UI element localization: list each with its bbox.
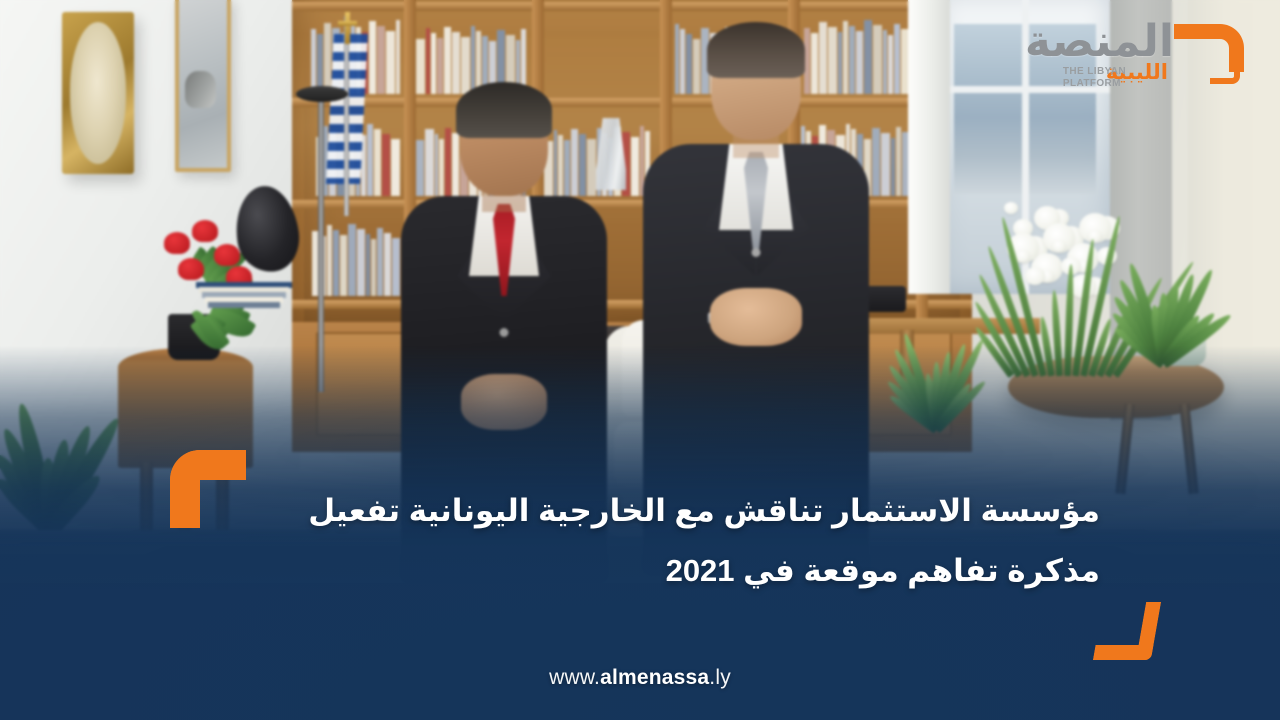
quote-bracket-bottom-right-icon: [1098, 602, 1156, 660]
logo-arabic-main: المنصة: [1025, 20, 1174, 64]
orange-hook-icon: [1170, 24, 1244, 80]
headline-line-1: مؤسسة الاستثمار تناقش مع الخارجية اليونا…: [180, 486, 1100, 536]
headline: مؤسسة الاستثمار تناقش مع الخارجية اليونا…: [180, 486, 1100, 595]
website-url[interactable]: www.almenassa.ly: [0, 666, 1280, 690]
url-tld: .ly: [709, 666, 731, 689]
brand-logo[interactable]: المنصة الليبية THE LIBYAN PLATFORM: [1040, 16, 1246, 98]
logo-english-line1: THE LIBYAN: [1063, 66, 1126, 77]
logo-english-line2: PLATFORM: [1063, 78, 1121, 89]
navy-tint: [0, 0, 1280, 720]
logo-english: THE LIBYAN PLATFORM: [1063, 66, 1126, 89]
headline-line-2: مذكرة تفاهم موقعة في 2021: [180, 546, 1100, 596]
url-prefix: www.: [549, 666, 600, 689]
news-card: المنصة الليبية THE LIBYAN PLATFORM مؤسسة…: [0, 0, 1280, 720]
url-name: almenassa: [600, 666, 709, 689]
